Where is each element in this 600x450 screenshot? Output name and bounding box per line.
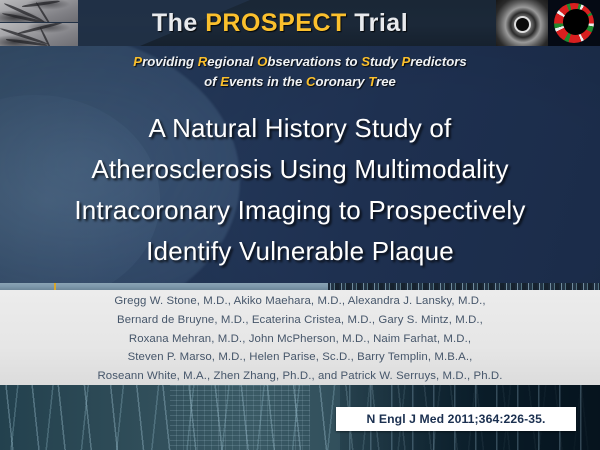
acronym-word: redictors	[410, 54, 466, 69]
acronym-subtitle-line-2: of Events in the Coronary Tree	[0, 72, 600, 92]
journal-citation: N Engl J Med 2011;364:226-35.	[336, 407, 576, 431]
acronym-capital: P	[402, 54, 411, 69]
angiogram-image-top-content	[0, 0, 78, 22]
divider-accent-tick	[54, 283, 56, 290]
angiogram-image-bottom	[0, 23, 78, 46]
main-title-line-1: A Natural History Study of	[0, 108, 600, 149]
acronym-word: oronary	[316, 74, 369, 89]
section-divider	[0, 283, 600, 290]
author-line-3: Roxana Mehran, M.D., John McPherson, M.D…	[0, 330, 600, 349]
angiogram-image-bottom-content	[0, 23, 78, 46]
acronym-capital: C	[306, 74, 316, 89]
acronym-word: roviding	[142, 54, 198, 69]
main-title-line-2: Atherosclerosis Using Multimodality	[0, 149, 600, 190]
trial-name-prefix: The	[152, 9, 205, 37]
acronym-subtitle: Providing Regional Observations to Study…	[0, 52, 600, 92]
acronym-word: egional	[207, 54, 257, 69]
acronym-word: vents in the	[229, 74, 306, 89]
ivus-lumen	[516, 18, 529, 31]
divider-barcode-texture	[328, 283, 600, 290]
author-line-2: Bernard de Bruyne, M.D., Ecaterina Crist…	[0, 311, 600, 330]
acronym-capital: E	[220, 74, 229, 89]
acronym-word: bservations to	[267, 54, 361, 69]
ivus-virtual-histology-image	[548, 0, 600, 46]
acronym-subtitle-line-1: Providing Regional Observations to Study…	[0, 52, 600, 72]
trial-name-suffix: Trial	[347, 9, 408, 37]
acronym-word: ree	[376, 74, 396, 89]
acronym-capital: S	[361, 54, 370, 69]
band-mesh-texture	[170, 385, 310, 450]
author-line-1: Gregg W. Stone, M.D., Akiko Maehara, M.D…	[0, 292, 600, 311]
trial-name-acronym: PROSPECT	[205, 9, 347, 37]
acronym-capital: T	[368, 74, 376, 89]
main-title-line-3: Intracoronary Imaging to Prospectively	[0, 190, 600, 231]
acronym-capital: O	[257, 54, 267, 69]
acronym-capital: R	[198, 54, 208, 69]
ivus-vh-mask	[553, 2, 595, 44]
angiogram-image-top	[0, 0, 78, 22]
ivus-grayscale-image	[496, 0, 548, 46]
acronym-capital: P	[133, 54, 142, 69]
acronym-word: tudy	[370, 54, 402, 69]
slide-main-title: A Natural History Study of Atheroscleros…	[0, 108, 600, 272]
acronym-word: of	[204, 74, 220, 89]
author-list: Gregg W. Stone, M.D., Akiko Maehara, M.D…	[0, 292, 600, 386]
main-title-line-4: Identify Vulnerable Plaque	[0, 231, 600, 272]
slide-header-bar: The PROSPECT Trial	[0, 0, 600, 46]
author-line-5: Roseann White, M.A., Zhen Zhang, Ph.D., …	[0, 367, 600, 386]
author-line-4: Steven P. Marso, M.D., Helen Parise, Sc.…	[0, 348, 600, 367]
presentation-slide: The PROSPECT Trial	[0, 0, 600, 450]
vessel-branch	[22, 0, 60, 7]
